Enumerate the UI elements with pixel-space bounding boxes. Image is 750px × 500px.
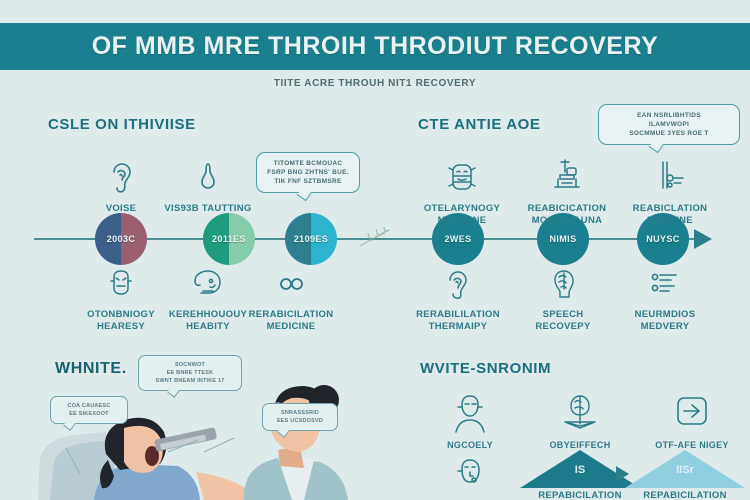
page-subtitle: TIITE ACRE THROUH NIT1 RECOVERY [0, 78, 750, 89]
timeline-item-above[interactable]: VIS93B TAUTTING [148, 152, 268, 215]
callout-text: SOCNWOTEE BNRE TTESKSWNT BNEAM INTIKE 17 [155, 362, 224, 384]
callout-bubble-right[interactable]: EAN NSRLIBHTIDSILAMVWOPISOCMMUE 3YES ROE… [598, 104, 740, 145]
node-year-label: 2WES [444, 234, 471, 244]
item-label: REABICLATIONMEDCINE [610, 203, 730, 227]
illustration-callout-3[interactable]: SNRASSSRIDEES UCSDOSVD [262, 403, 338, 431]
infographic-canvas: OF MMB MRE THROIH THRODIUT RECOVERY TIIT… [0, 0, 750, 500]
node-year-label: NUYSC [646, 234, 680, 244]
item-label: RERABILILATIONTHERMAIPY [398, 309, 518, 333]
triangle-value: IISr [671, 464, 699, 476]
bottom-grid-item[interactable]: OTF-AFE NIGEY [640, 390, 744, 451]
callout-text: TITOMTE BCMOUACFSRP BNG ZHTNS' BUE.TIK F… [267, 160, 349, 185]
left-section-heading: CSLE ON ITHIVIISE [48, 116, 196, 133]
ear-outline-icon [398, 264, 518, 304]
timeline-arrow-head [694, 229, 712, 249]
callout-text: SNRASSSRIDEES UCSDOSVD [277, 410, 323, 424]
bubble-tail [649, 137, 664, 152]
illustration-callout-1[interactable]: COA CAUAESCEE SIKEXOOT [50, 396, 128, 424]
item-label: REABICICATIONMOSTTHAUNA [507, 203, 627, 227]
callout-bubble-mid[interactable]: TITOMTE BCMOUACFSRP BNG ZHTNS' BUE.TIK F… [256, 152, 360, 193]
timeline-item-below[interactable]: RERABILILATIONTHERMAIPY [398, 264, 518, 333]
list-lines-icon [605, 264, 725, 304]
header-band: OF MMB MRE THROIH THRODIUT RECOVERY [0, 23, 750, 70]
timeline-node[interactable]: 2011ES [203, 213, 255, 265]
callout-text: EAN NSRLIBHTIDSILAMVWOPISOCMMUE 3YES ROE… [629, 112, 708, 137]
bulb-nose-icon [148, 152, 268, 198]
timeline-item-below[interactable]: RERABICILATIONMEDICINE [231, 264, 351, 333]
right-section-heading: CTE ANTIE AOE [418, 116, 541, 133]
node-year-label: 2011ES [212, 234, 246, 244]
bottom-left-heading: WHNITE. [55, 360, 127, 378]
node-year-label: 2109ES [294, 234, 328, 244]
timeline-item-above[interactable]: REABICICATIONMOSTTHAUNA [507, 152, 627, 227]
face-mask-icon [402, 152, 522, 198]
timeline-item-below[interactable]: NEURMDIOSMEDVERY [605, 264, 725, 333]
timeline-node[interactable]: 2109ES [285, 213, 337, 265]
two-dots-icon [231, 264, 351, 304]
bottom-grid-item[interactable]: REMMNIVUSKLSTION [418, 452, 522, 500]
timeline-node[interactable]: 2003C [95, 213, 147, 265]
bubble-tail [297, 185, 312, 200]
brain-book-icon [528, 390, 632, 436]
item-label: NEURMDIOSMEDVERY [605, 309, 725, 333]
page-title: OF MMB MRE THROIH THRODIUT RECOVERY [92, 32, 659, 61]
bottom-grid-item[interactable]: NGCOELY [418, 390, 522, 451]
node-year-label: NIMIS [549, 234, 576, 244]
triangle-shape: IISr [625, 450, 745, 488]
sprout-icon [358, 224, 392, 250]
item-label: RERABICILATIONMEDICINE [231, 309, 351, 333]
item-label: VIS93B TAUTTING [148, 203, 268, 215]
exit-arrow-icon [640, 390, 744, 436]
person-head-icon [418, 390, 522, 436]
timeline-item-above[interactable]: OTELARYNOGYMEDICINE [402, 152, 522, 227]
microscope-icon [507, 152, 627, 198]
callout-text: COA CAUAESCEE SIKEXOOT [68, 403, 111, 417]
face-speak-icon [418, 452, 522, 498]
triangle-label: REPABICILATIONMECOCINE [520, 490, 640, 500]
triangle-label: REPABICILATIONMEDIUERY [625, 490, 745, 500]
timeline-item-above[interactable]: REABICLATIONMEDCINE [610, 152, 730, 227]
item-label: OTELARYNOGYMEDICINE [402, 203, 522, 227]
bottom-right-heading: WVITE-SNRONIM [420, 360, 551, 377]
item-label: NGCOELY [418, 440, 522, 451]
document-list-icon [610, 152, 730, 198]
triangle-value: IS [566, 464, 594, 476]
node-year-label: 2003C [107, 234, 136, 244]
triangle-card[interactable]: IISr REPABICILATIONMEDIUERY [625, 450, 745, 500]
illustration-callout-2[interactable]: SOCNWOTEE BNRE TTESKSWNT BNEAM INTIKE 17 [138, 355, 242, 391]
bottom-grid-item[interactable]: OBYEIFFECH [528, 390, 632, 451]
